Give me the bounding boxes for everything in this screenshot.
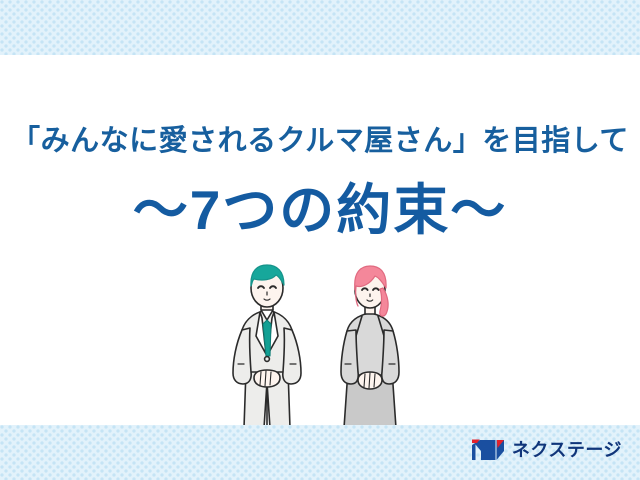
female-staff-figure [341,266,399,428]
page-title: 「みんなに愛されるクルマ屋さん」を目指して [0,126,640,158]
top-dot-band [0,0,640,55]
nextage-n-mark-icon [471,438,505,462]
brand-name-label: ネクステージ [512,441,622,459]
male-staff-figure [233,265,301,428]
page-subtitle: ～7つの約束～ [0,180,640,241]
illustration-two-staff-bowing [0,258,640,433]
brand-logo: ネクステージ [471,438,622,462]
slide-canvas: 「みんなに愛されるクルマ屋さん」を目指して ～7つの約束～ [0,0,640,480]
staff-illustration-svg [220,258,420,433]
